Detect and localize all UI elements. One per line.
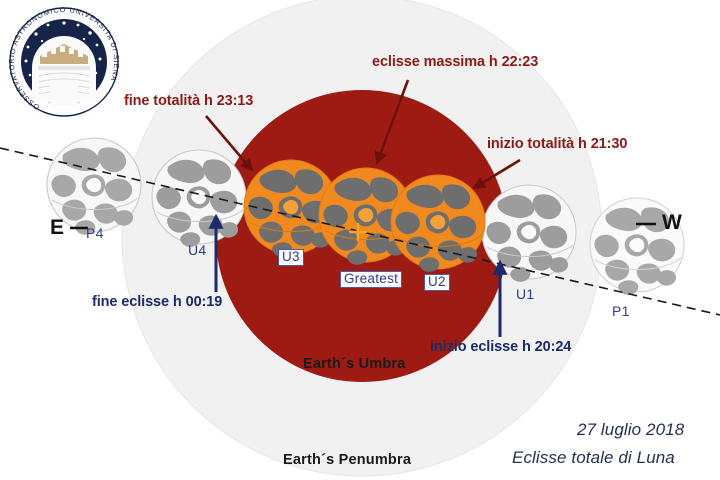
eclipse-diagram: OSSERVATORIO ASTRONOMICO UNIVERSITA DI S… (0, 0, 720, 480)
annotation-inizio-totalita: inizio totalità h 21:30 (487, 137, 627, 152)
contact-point-p4: P4 (86, 226, 104, 240)
contact-point-u4: U4 (188, 243, 207, 257)
annotation-fine-totalita: fine totalità h 23:13 (124, 94, 253, 109)
event-date: 27 luglio 2018 (577, 421, 684, 438)
cardinal-east: E (50, 217, 64, 238)
contact-point-p1: P1 (612, 304, 630, 318)
annotation-inizio-eclisse: inizio eclisse h 20:24 (430, 340, 571, 355)
umbra-label: Earth´s Umbra (303, 357, 406, 372)
event-title: Eclisse totale di Luna (512, 449, 675, 466)
annotation-eclisse-massima: eclisse massima h 22:23 (372, 55, 538, 70)
cardinal-west: W (662, 212, 682, 233)
contact-point-u2: U2 (424, 274, 450, 291)
observatory-logo: OSSERVATORIO ASTRONOMICO UNIVERSITA DI S… (8, 6, 120, 118)
contact-point-u1: U1 (516, 287, 535, 301)
contact-point-u3: U3 (278, 249, 304, 266)
contact-point-greatest: Greatest (340, 271, 402, 288)
penumbra-label: Earth´s Penumbra (283, 453, 411, 468)
annotation-fine-eclisse: fine eclisse h 00:19 (92, 295, 222, 310)
